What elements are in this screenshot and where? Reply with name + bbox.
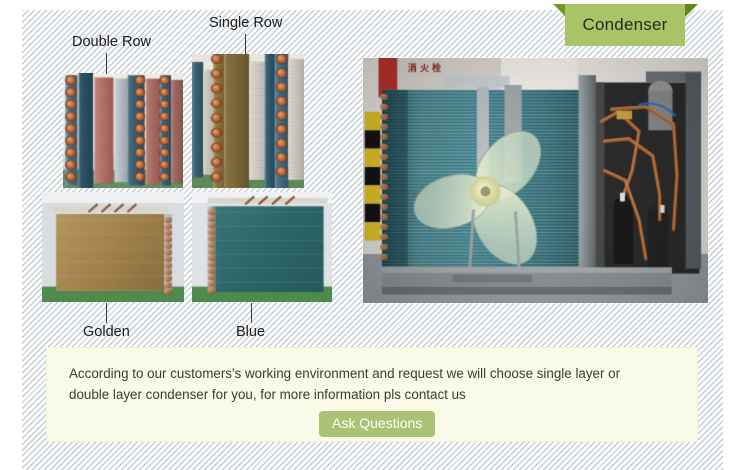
info-note-line-2: double layer condenser for you, for more… <box>69 387 466 402</box>
photo-double-row <box>63 73 183 188</box>
photo-golden <box>42 192 184 302</box>
callout-label-blue: Blue <box>236 324 265 340</box>
ask-questions-button[interactable]: Ask Questions <box>319 411 435 437</box>
photo-single-row <box>192 54 304 188</box>
callout-label-single-row: Single Row <box>209 15 282 31</box>
leader-line-double-row <box>106 53 107 74</box>
section-title: Condenser <box>583 15 668 35</box>
callout-label-golden: Golden <box>83 324 130 340</box>
leader-line-single-row <box>245 34 246 54</box>
photo-blue <box>192 192 332 302</box>
leader-line-blue <box>251 303 252 323</box>
leader-line-golden <box>106 303 107 323</box>
info-note-text: According to our customers's working env… <box>69 363 681 405</box>
product-description-panel: Condenser Double Row Single Row Golden B… <box>0 0 745 470</box>
photo-condenser-unit <box>363 58 708 303</box>
callout-label-double-row: Double Row <box>72 34 151 50</box>
section-banner: Condenser <box>565 4 685 46</box>
info-note-box: According to our customers's working env… <box>46 347 698 442</box>
info-note-line-1: According to our customers's working env… <box>69 366 620 381</box>
